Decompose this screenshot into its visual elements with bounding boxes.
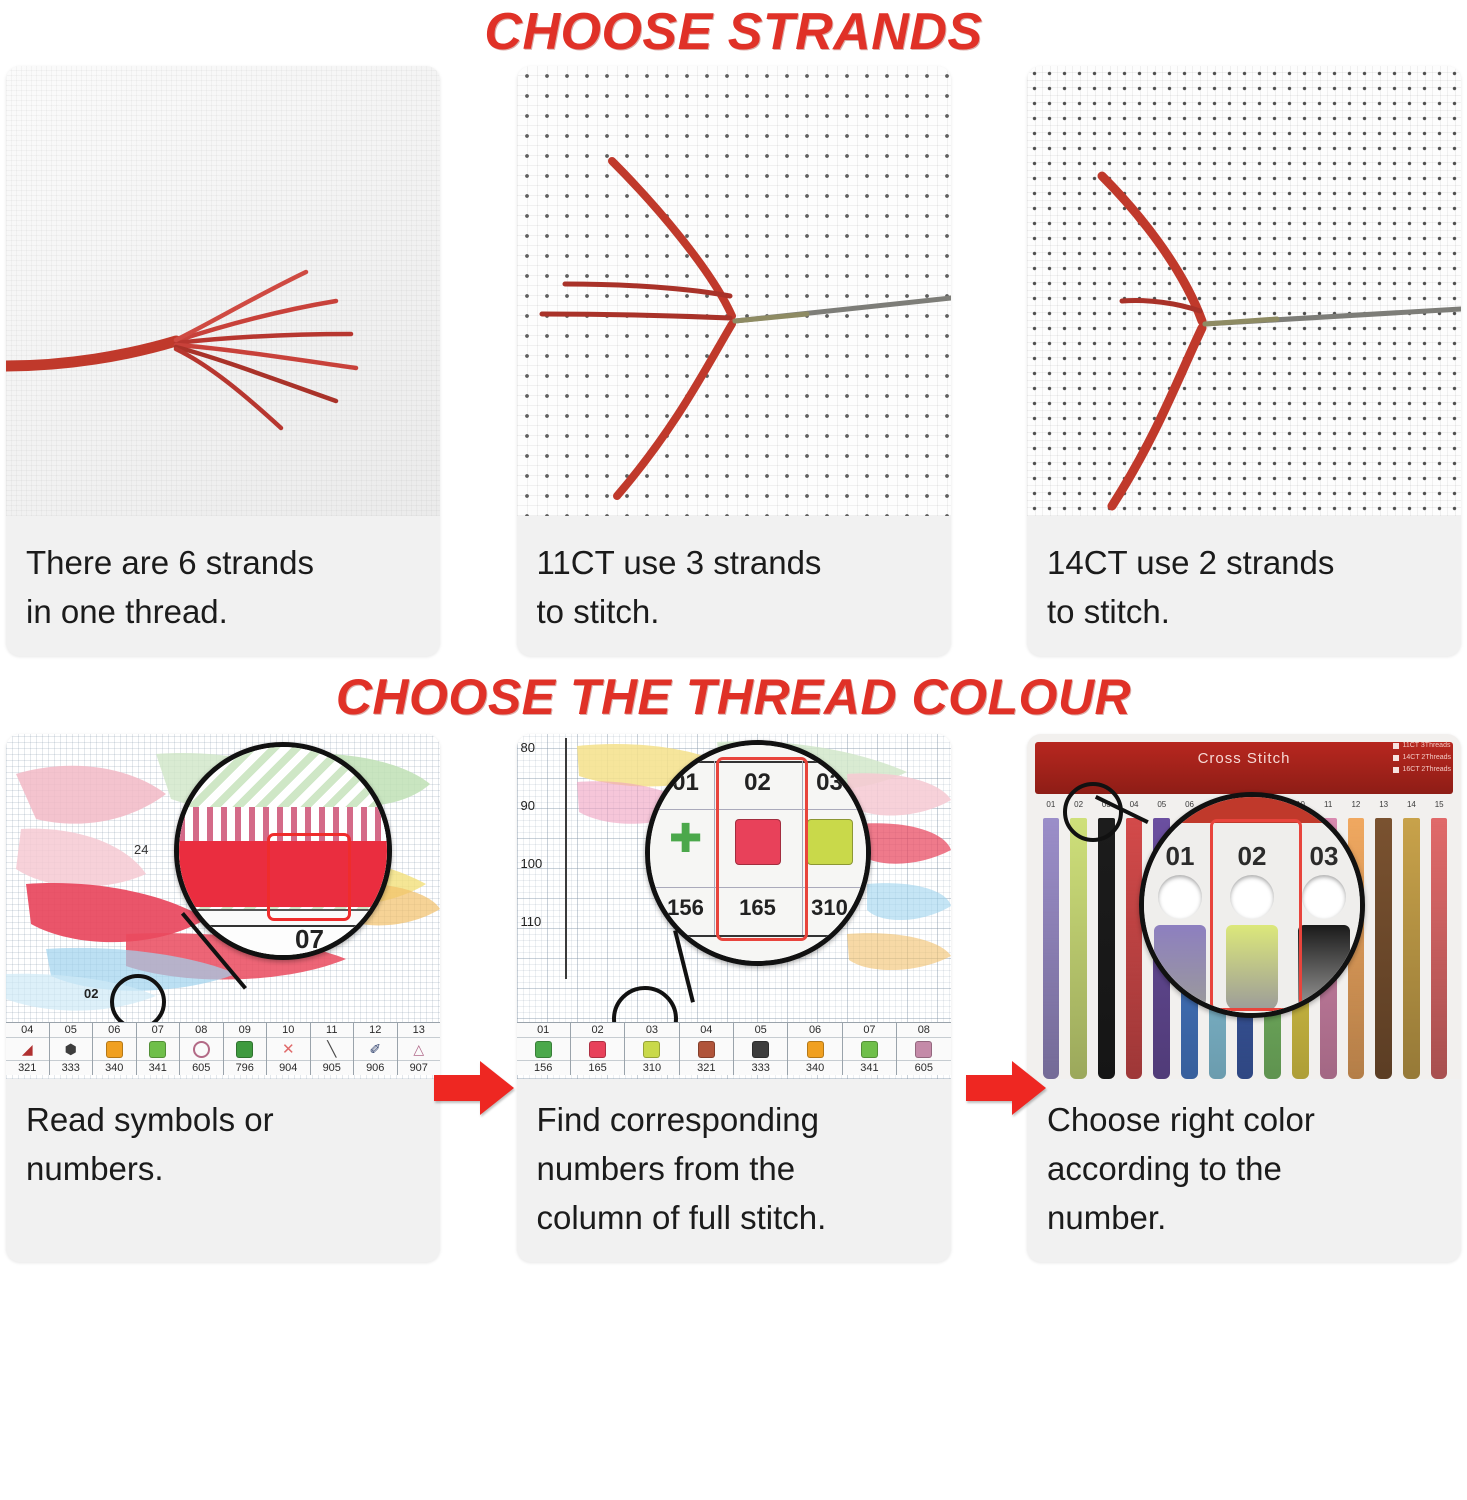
caption-line-2: to stitch.	[1047, 587, 1441, 636]
chart-legend-middle: 0115602165033100432105333063400734108605	[517, 1022, 951, 1075]
thread-card-check-option: 11CT 3Threads	[1393, 740, 1451, 752]
legend-number: 06	[788, 1023, 841, 1038]
legend-number: 03	[625, 1023, 678, 1038]
photo-chart-legend: 8090100110	[517, 734, 951, 1079]
thread-colour-card-row: 07 02 24 04◢32105⬢3330634007341086050979…	[0, 734, 1467, 1262]
legend-cell: 05⬢333	[50, 1023, 94, 1075]
legend-code: 333	[50, 1060, 93, 1075]
card-read-symbols: 07 02 24 04◢32105⬢3330634007341086050979…	[6, 734, 440, 1262]
legend-symbol: ╲	[311, 1038, 354, 1060]
legend-number: 07	[843, 1023, 896, 1038]
card-find-numbers: 8090100110	[517, 734, 951, 1262]
photo-pattern-chart: 07 02 24 04◢32105⬢3330634007341086050979…	[6, 734, 440, 1079]
arrow-step-1-to-2	[434, 1075, 482, 1101]
thread-organiser-card: Cross Stitch 11CT 3Threads14CT 2Threads1…	[1027, 734, 1461, 1079]
thread-skein	[1425, 818, 1453, 1079]
right-arrow-icon	[434, 1075, 482, 1101]
legend-code: 341	[843, 1060, 896, 1075]
legend-number: 01	[517, 1023, 570, 1038]
legend-cell: 06340	[788, 1023, 842, 1075]
legend-cell: 04321	[680, 1023, 734, 1075]
legend-symbol	[680, 1038, 733, 1060]
legend-code: 333	[734, 1060, 787, 1075]
legend-symbol: △	[398, 1038, 441, 1060]
magnifier-circle-pattern: 07	[174, 742, 392, 960]
legend-number: 08	[180, 1023, 223, 1038]
legend-symbol	[788, 1038, 841, 1060]
thread-hole-number: 13	[1370, 800, 1398, 818]
caption-line-1: Choose right color	[1047, 1095, 1441, 1144]
legend-code: 906	[354, 1060, 397, 1075]
needle-and-thread-illustration-2-strands	[1027, 66, 1461, 516]
legend-number: 04	[6, 1023, 49, 1038]
thread-hole-number: 15	[1425, 800, 1453, 818]
photo-thread-organiser: Cross Stitch 11CT 3Threads14CT 2Threads1…	[1027, 734, 1461, 1079]
legend-number: 09	[224, 1023, 267, 1038]
caption-line-1: Find corresponding	[537, 1095, 931, 1144]
legend-code: 156	[517, 1060, 570, 1075]
legend-symbol	[517, 1038, 570, 1060]
legend-number: 08	[897, 1023, 950, 1038]
legend-code: 907	[398, 1060, 441, 1075]
legend-number: 02	[571, 1023, 624, 1038]
magnifier-circle-threads: 010203	[1139, 792, 1365, 1018]
thread-card-check-options: 11CT 3Threads14CT 2Threads16CT 2Threads	[1393, 740, 1451, 776]
pattern-chart-canvas: 07 02 24 04◢32105⬢3330634007341086050979…	[6, 734, 440, 1079]
legend-symbol: ◢	[6, 1038, 49, 1060]
magnifier-chart-number: 07	[295, 924, 324, 955]
legend-code: 340	[788, 1060, 841, 1075]
legend-cell: 01156	[517, 1023, 571, 1075]
legend-number: 04	[680, 1023, 733, 1038]
thread-skein	[1370, 818, 1398, 1079]
legend-number: 07	[137, 1023, 180, 1038]
highlighted-cell-box	[267, 833, 351, 921]
thread-skein	[1398, 818, 1426, 1079]
thread-hole-number: 01	[1037, 800, 1065, 818]
checkbox-icon	[1393, 755, 1399, 761]
section-title-choose-strands: CHOOSE STRANDS	[0, 0, 1467, 60]
legend-symbol	[180, 1038, 223, 1060]
legend-cell: 10✕904	[267, 1023, 311, 1075]
legend-number: 05	[50, 1023, 93, 1038]
magnifier-circle-legend: 010203 ✚ 156165310	[645, 740, 871, 966]
thread-hole-number: 14	[1398, 800, 1426, 818]
magnifier-column-header: 01	[650, 769, 722, 797]
magnifier-column-code: 156	[650, 895, 722, 921]
legend-chart-canvas: 8090100110	[517, 734, 951, 1079]
legend-symbol: ⬢	[50, 1038, 93, 1060]
caption-line-2: numbers.	[26, 1144, 420, 1193]
legend-symbol	[137, 1038, 180, 1060]
card-14ct-two-strands: 14CT use 2 strands to stitch.	[1027, 66, 1461, 656]
legend-cell: 07341	[843, 1023, 897, 1075]
caption-line-1: 11CT use 3 strands	[537, 538, 931, 587]
caption-find-numbers: Find corresponding numbers from the colu…	[517, 1079, 951, 1262]
photo-11ct-aida-with-needle	[517, 66, 951, 516]
card-six-strands: There are 6 strands in one thread.	[6, 66, 440, 656]
legend-symbol	[625, 1038, 678, 1060]
card-11ct-three-strands: 11CT use 3 strands to stitch.	[517, 66, 951, 656]
legend-code: 321	[680, 1060, 733, 1075]
caption-read-symbols: Read symbols or numbers.	[6, 1079, 440, 1262]
caption-line-3: column of full stitch.	[537, 1193, 931, 1242]
legend-code: 905	[311, 1060, 354, 1075]
legend-symbol	[734, 1038, 787, 1060]
thread-card-check-option: 16CT 2Threads	[1393, 764, 1451, 776]
chart-legend-left: 04◢32105⬢3330634007341086050979610✕90411…	[6, 1022, 440, 1075]
legend-cell: 07341	[137, 1023, 181, 1075]
legend-cell: 13△907	[398, 1023, 441, 1075]
legend-code: 605	[180, 1060, 223, 1075]
caption-line-1: Read symbols or	[26, 1095, 420, 1144]
legend-cell: 02165	[571, 1023, 625, 1075]
section-title-choose-thread-colour: CHOOSE THE THREAD COLOUR	[0, 656, 1467, 724]
legend-cell: 05333	[734, 1023, 788, 1075]
chart-row-note: 24	[134, 842, 148, 857]
caption-line-2: to stitch.	[537, 587, 931, 636]
chart-corner-number: 02	[84, 986, 98, 1001]
caption-11ct: 11CT use 3 strands to stitch.	[517, 516, 951, 656]
legend-number: 12	[354, 1023, 397, 1038]
caption-line-2: in one thread.	[26, 587, 420, 636]
needle-and-thread-illustration-3-strands	[517, 66, 951, 516]
legend-symbol: ✕	[267, 1038, 310, 1060]
magnifier-focus-circle-threads	[1063, 782, 1123, 842]
caption-six-strands: There are 6 strands in one thread.	[6, 516, 440, 656]
caption-line-1: There are 6 strands	[26, 538, 420, 587]
thread-skein	[1037, 818, 1065, 1079]
legend-cell: 08605	[180, 1023, 224, 1075]
thread-hole-punch	[1144, 875, 1216, 924]
thread-illustration-6-strands	[6, 66, 440, 516]
checkbox-icon	[1393, 767, 1399, 773]
caption-line-2: numbers from the	[537, 1144, 931, 1193]
highlighted-column-box	[716, 757, 808, 941]
legend-cell: 09796	[224, 1023, 268, 1075]
legend-code: 796	[224, 1060, 267, 1075]
legend-code: 341	[137, 1060, 180, 1075]
magnifier-skein	[1144, 925, 1216, 1013]
legend-symbol	[843, 1038, 896, 1060]
highlighted-thread-box	[1210, 819, 1302, 1011]
thread-skein	[1092, 818, 1120, 1079]
legend-number: 05	[734, 1023, 787, 1038]
legend-code: 321	[6, 1060, 49, 1075]
legend-cell: 08605	[897, 1023, 950, 1075]
legend-symbol	[571, 1038, 624, 1060]
magnifier-column-swatch: ✚	[650, 819, 722, 870]
right-arrow-icon	[966, 1075, 1014, 1101]
legend-cell: 11╲905	[311, 1023, 355, 1075]
legend-number: 10	[267, 1023, 310, 1038]
legend-code: 340	[93, 1060, 136, 1075]
magnifier-hole-number: 01	[1144, 841, 1216, 872]
arrow-step-2-to-3	[966, 1075, 1014, 1101]
card-choose-color: Cross Stitch 11CT 3Threads14CT 2Threads1…	[1027, 734, 1461, 1262]
legend-cell: 06340	[93, 1023, 137, 1075]
strands-card-row: There are 6 strands in one thread. 11CT …	[0, 66, 1467, 656]
legend-number: 13	[398, 1023, 441, 1038]
legend-code: 310	[625, 1060, 678, 1075]
caption-line-3: number.	[1047, 1193, 1441, 1242]
legend-cell: 03310	[625, 1023, 679, 1075]
legend-code: 605	[897, 1060, 950, 1075]
checkbox-icon	[1393, 743, 1399, 749]
legend-number: 06	[93, 1023, 136, 1038]
legend-cell: 04◢321	[6, 1023, 50, 1075]
legend-number: 11	[311, 1023, 354, 1038]
legend-code: 904	[267, 1060, 310, 1075]
legend-symbol	[224, 1038, 267, 1060]
legend-symbol	[897, 1038, 950, 1060]
thread-card-check-option: 14CT 2Threads	[1393, 752, 1451, 764]
caption-14ct: 14CT use 2 strands to stitch.	[1027, 516, 1461, 656]
photo-14ct-aida-with-needle	[1027, 66, 1461, 516]
legend-symbol	[93, 1038, 136, 1060]
legend-symbol: ✐	[354, 1038, 397, 1060]
legend-code: 165	[571, 1060, 624, 1075]
caption-choose-color: Choose right color according to the numb…	[1027, 1079, 1461, 1262]
caption-line-2: according to the	[1047, 1144, 1441, 1193]
thread-skein	[1065, 818, 1093, 1079]
legend-cell: 12✐906	[354, 1023, 398, 1075]
photo-six-strand-thread	[6, 66, 440, 516]
caption-line-1: 14CT use 2 strands	[1047, 538, 1441, 587]
